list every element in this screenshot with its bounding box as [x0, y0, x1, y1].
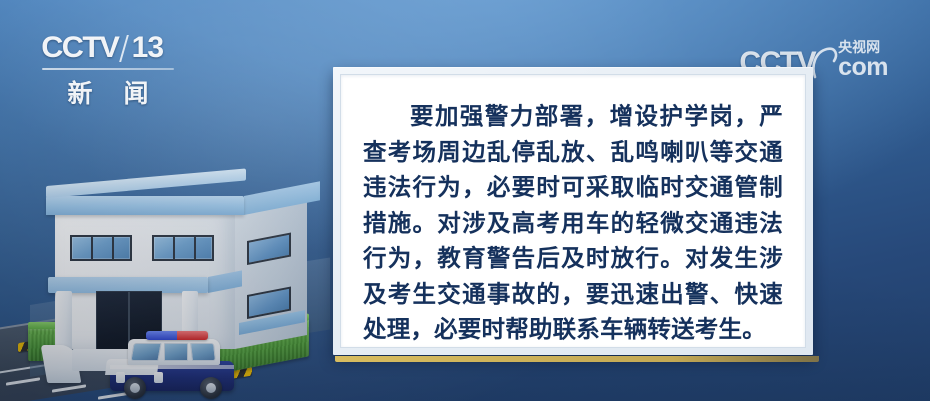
car-headlamp-rear: [154, 372, 163, 383]
cctv-wordmark: CCTV: [41, 31, 118, 65]
window-upper-left: [70, 235, 132, 261]
quote-panel-inner: 要加强警力部署，增设护学岗，严查考场周边乱停乱放、乱鸣喇叭等交通违法行为，必要时…: [340, 74, 806, 348]
car-windshield: [130, 343, 161, 361]
police-station-illustration: [0, 141, 345, 401]
watermark-com-text: com: [838, 55, 888, 80]
car-window-rear: [190, 343, 216, 361]
car-headlamp-front: [116, 372, 125, 383]
broadcast-frame: CCTV 13 新 闻 CCTV 央视网 com 要加强警力部署，增设护学岗，严…: [0, 0, 930, 401]
lightbar-blue: [146, 331, 177, 340]
watermark-cn-text: 央视网: [838, 40, 880, 54]
quote-panel: 要加强警力部署，增设护学岗，严查考场周边乱停乱放、乱鸣喇叭等交通违法行为，必要时…: [333, 67, 813, 355]
cctv13-channel-logo: CCTV 13 新 闻: [42, 31, 192, 105]
building-roof-top: [46, 169, 246, 198]
car-wheel-front: [124, 377, 146, 399]
car-wheel-rear: [200, 377, 222, 399]
channel-number: 13: [132, 31, 163, 65]
car-side-stripe: [110, 365, 234, 369]
police-car: [100, 321, 250, 399]
watermark-text-group: 央视网 com: [838, 40, 888, 80]
window-upper-center: [152, 235, 214, 261]
lightbar-red: [177, 331, 208, 340]
logo-row: CCTV 13: [42, 31, 192, 65]
car-lightbar: [146, 331, 208, 340]
quote-text: 要加强警力部署，增设护学岗，严查考场周边乱停乱放、乱鸣喇叭等交通违法行为，必要时…: [363, 99, 783, 348]
car-window-front: [164, 343, 188, 361]
channel-subtitle: 新 闻: [42, 74, 174, 110]
watermark-arc-icon: [809, 50, 837, 80]
building-roof-front: [46, 196, 244, 215]
logo-slash-divider: [119, 35, 129, 62]
logo-underline: [42, 68, 174, 70]
